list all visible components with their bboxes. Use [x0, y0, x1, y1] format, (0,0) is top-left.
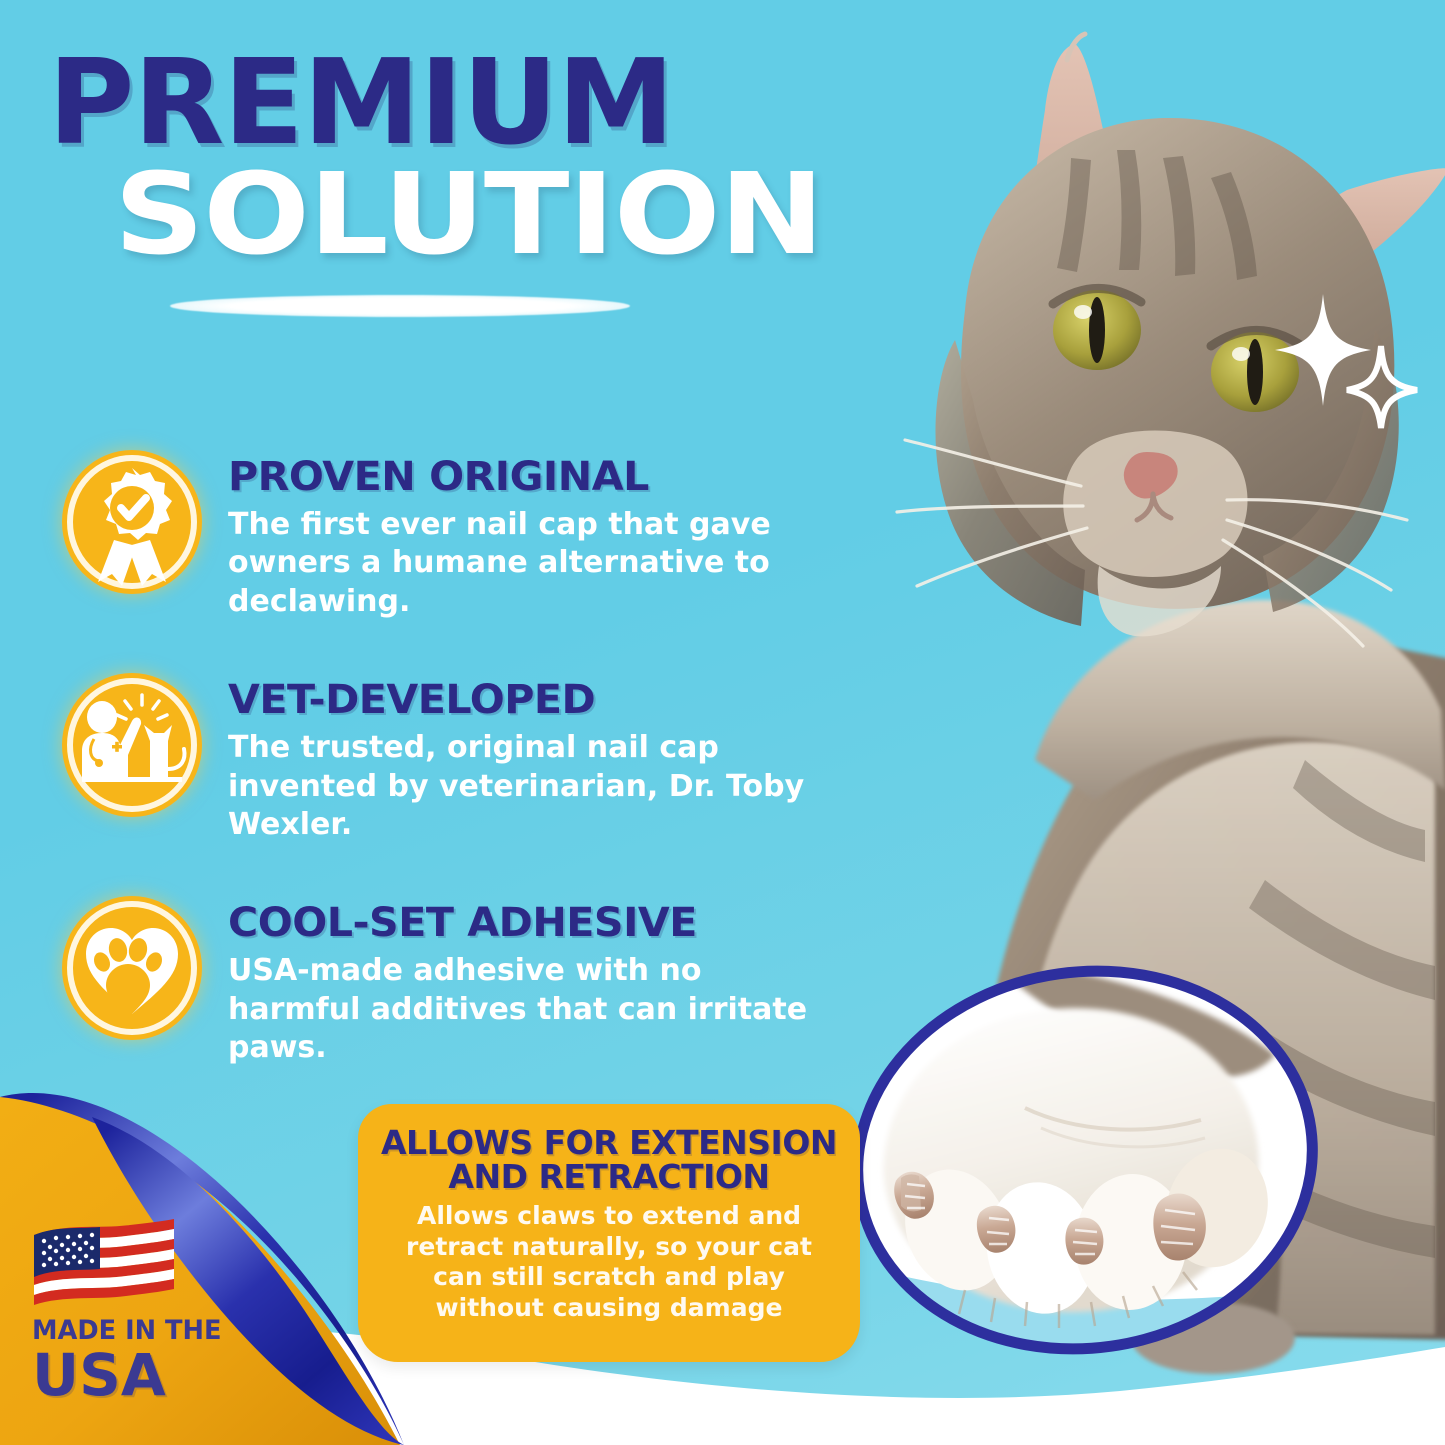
vet-high-five-cat-icon	[58, 669, 206, 821]
callout-text: Allows claws to extend and retract natur…	[384, 1201, 834, 1323]
made-in-usa-line-1: MADE IN THE	[32, 1315, 258, 1346]
feature-text: USA-made adhesive with no harmful additi…	[228, 952, 808, 1067]
feature-text: The trusted, original nail cap invented …	[228, 729, 808, 844]
sparkle-star-outline-icon	[1347, 346, 1417, 428]
heart-paw-icon	[58, 892, 206, 1044]
headline: PREMIUM SOLUTION	[40, 48, 840, 268]
headline-underline-accent	[170, 295, 630, 317]
feature-body: COOL-SET ADHESIVE USA-made adhesive with…	[228, 892, 808, 1067]
feature-title: PROVEN ORIGINAL	[228, 454, 825, 500]
feature-list: PROVEN ORIGINAL The first ever nail cap …	[58, 446, 848, 1116]
feature-item-proven-original: PROVEN ORIGINAL The first ever nail cap …	[58, 446, 848, 621]
made-in-usa-badge: MADE IN THE USA	[30, 1213, 270, 1403]
callout-title: ALLOWS FOR EXTENSION AND RETRACTION	[376, 1126, 842, 1193]
feature-title: COOL-SET ADHESIVE	[228, 900, 825, 946]
headline-line-2: SOLUTION	[114, 162, 927, 268]
feature-item-cool-set-adhesive: COOL-SET ADHESIVE USA-made adhesive with…	[58, 892, 848, 1067]
sparkle-group	[1265, 290, 1425, 430]
feature-item-vet-developed: VET-DEVELOPED The trusted, original nail…	[58, 669, 848, 844]
feature-body: PROVEN ORIGINAL The first ever nail cap …	[228, 446, 808, 621]
headline-line-1: PREMIUM	[48, 48, 840, 158]
made-in-usa-line-2: USA	[32, 1348, 270, 1403]
feature-text: The first ever nail cap that gave owners…	[228, 506, 808, 621]
extension-retraction-callout: ALLOWS FOR EXTENSION AND RETRACTION Allo…	[358, 1104, 860, 1362]
cat-paw-closeup-inset	[845, 960, 1325, 1360]
award-ribbon-check-icon	[58, 446, 206, 598]
usa-flag-icon	[30, 1213, 178, 1305]
feature-title: VET-DEVELOPED	[228, 677, 825, 723]
product-feature-poster: PREMIUM SOLUTION PROVEN OR	[0, 0, 1445, 1445]
feature-body: VET-DEVELOPED The trusted, original nail…	[228, 669, 808, 844]
